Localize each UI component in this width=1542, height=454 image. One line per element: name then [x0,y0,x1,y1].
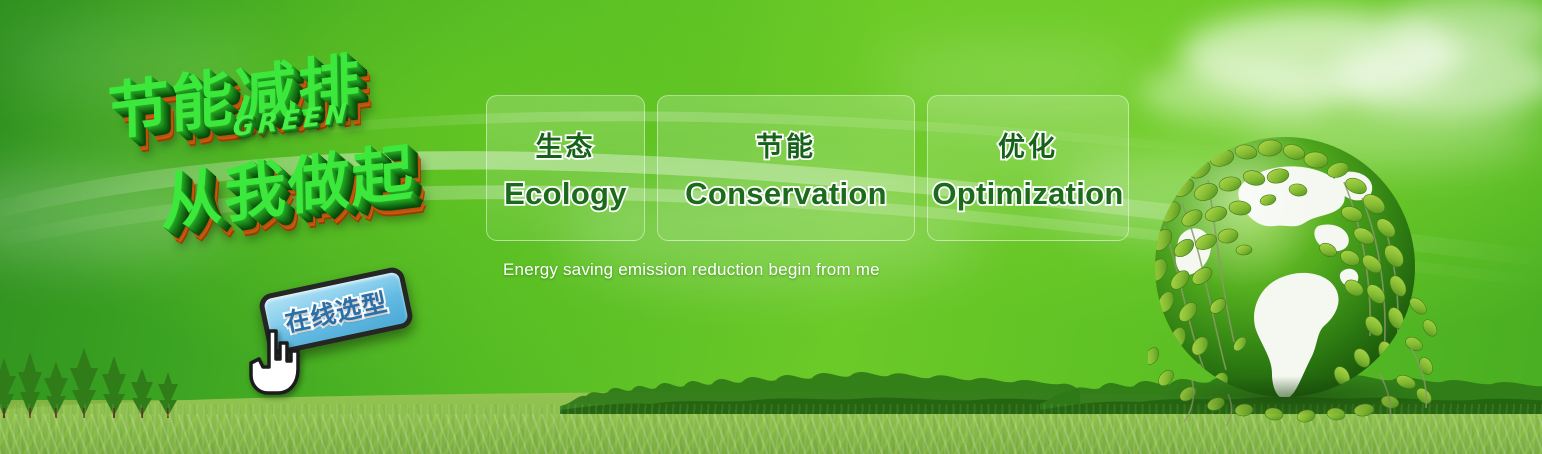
feature-card-title-en: Optimization [932,176,1123,212]
online-selection-button-label: 在线选型 [281,283,390,340]
green-energy-banner: 节能减排 GREEN 从我做起 在线选型 生态 Ecology 节能 Conse… [0,0,1542,454]
tagline: Energy saving emission reduction begin f… [503,260,880,280]
feature-cards: 生态 Ecology 节能 Conservation 优化 Optimizati… [486,95,1129,241]
feature-card-conservation[interactable]: 节能 Conservation [657,95,915,241]
cloud-icon [1140,62,1340,124]
feature-card-ecology[interactable]: 生态 Ecology [486,95,645,241]
cloud-icon [1180,10,1460,100]
feature-card-title-en: Conservation [685,176,887,212]
cloud-icon [1330,38,1542,116]
online-selection-button[interactable]: 在线选型 [257,265,415,356]
feature-card-title-cn: 节能 [756,125,816,164]
feature-card-optimization[interactable]: 优化 Optimization [927,95,1129,241]
feature-card-title-cn: 优化 [998,125,1058,164]
headline-3d: 节能减排 GREEN 从我做起 [79,12,504,289]
leafy-earth-globe [1148,130,1438,430]
cloud-icon [1390,0,1542,54]
feature-card-title-en: Ecology [504,176,627,212]
globe-shadow [1156,376,1432,416]
feature-card-title-cn: 生态 [536,125,596,164]
